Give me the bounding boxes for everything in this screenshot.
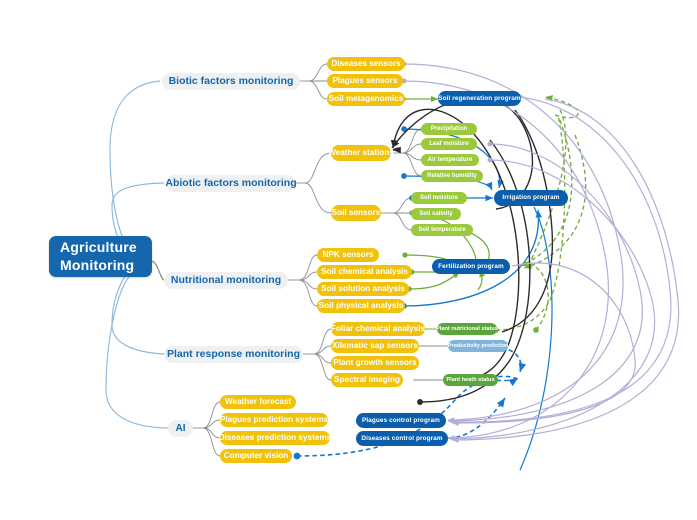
node-plant-nutricional-status[interactable]: Plant nutricional status bbox=[437, 323, 497, 335]
node-label: Soil chemical analysis bbox=[321, 267, 408, 276]
root-node[interactable]: Agriculture Monitoring bbox=[49, 236, 152, 277]
branch-biotic-factors-monitoring[interactable]: Biotic factors monitoring bbox=[162, 73, 300, 90]
node-soil-temperature[interactable]: Soil temperature bbox=[411, 224, 473, 236]
node-air-temperature[interactable]: Air temperature bbox=[421, 154, 479, 166]
node-label: Relative humidity bbox=[427, 173, 477, 180]
node-xilematic-sap-sensors[interactable]: Xilematic sap sensors bbox=[331, 339, 419, 353]
node-label: Spectral imaging bbox=[334, 375, 400, 384]
node-plagues-sensors[interactable]: Plagues sensors bbox=[327, 74, 403, 88]
node-spectral-imaging[interactable]: Spectral imaging bbox=[331, 373, 403, 387]
node-precipitation[interactable]: Precipitation bbox=[421, 123, 477, 135]
node-label: Soil temperature bbox=[418, 227, 465, 234]
node-soil-regeneration-program[interactable]: Soil regeneration program bbox=[438, 91, 521, 106]
node-soil-solution-analysis[interactable]: Soil solution analysis bbox=[317, 282, 409, 296]
node-label: Plagues control program bbox=[362, 417, 440, 424]
node-label: Soil moisture bbox=[420, 195, 458, 202]
node-label: Soil regeneration program bbox=[438, 95, 520, 102]
branch-label: Plant response monitoring bbox=[167, 349, 300, 361]
node-npk-sensors[interactable]: NPK sensors bbox=[317, 248, 379, 262]
node-weather-stations[interactable]: Weather stations bbox=[331, 145, 391, 161]
node-diseases-prediction-systems[interactable]: Diseases prediction systems bbox=[220, 431, 330, 445]
node-label: Diseases control program bbox=[361, 435, 442, 442]
node-label: Productivity prediction bbox=[448, 343, 509, 349]
branch-label: Biotic factors monitoring bbox=[169, 76, 294, 88]
node-computer-vision[interactable]: Computer vision bbox=[220, 449, 292, 463]
node-label: Plagues prediction systems bbox=[220, 415, 328, 424]
branch-abiotic-factors-monitoring[interactable]: Abiotic factors monitoring bbox=[166, 175, 296, 192]
node-label: Plant growth sensors bbox=[333, 358, 416, 367]
node-diseases-control-program[interactable]: Diseases control program bbox=[356, 431, 448, 446]
node-soil-metagenomics[interactable]: Soil metagenomics bbox=[327, 92, 405, 106]
node-productivity-prediction[interactable]: Productivity prediction bbox=[448, 340, 508, 352]
node-soil-chemical-analysis[interactable]: Soil chemical analysis bbox=[317, 265, 412, 279]
node-label: Soil physical analysis bbox=[319, 301, 404, 310]
branch-nutritional-monitoring[interactable]: Nutritional monitoring bbox=[164, 272, 288, 289]
root-label-line2: Monitoring bbox=[60, 257, 134, 273]
node-label: Weather forecast bbox=[225, 397, 291, 406]
node-label: NPK sensors bbox=[323, 250, 374, 259]
node-label: Soil solution analysis bbox=[321, 284, 405, 293]
node-soil-physical-analysis[interactable]: Soil physical analysis bbox=[317, 299, 405, 313]
node-plant-heath-status[interactable]: Plant heath status bbox=[443, 374, 498, 386]
root-node-label: Agriculture Monitoring bbox=[60, 239, 137, 274]
node-label: Plant nutricional status bbox=[436, 326, 498, 332]
node-label: Diseases prediction systems bbox=[219, 433, 331, 442]
node-label: Diseases sensors bbox=[331, 59, 400, 68]
node-plant-growth-sensors[interactable]: Plant growth sensors bbox=[331, 356, 419, 370]
node-label: Air temperature bbox=[428, 157, 473, 164]
node-plagues-control-program[interactable]: Plagues control program bbox=[356, 413, 446, 428]
node-soil-salinity[interactable]: Soil salinity bbox=[411, 208, 461, 220]
node-label: Computer vision bbox=[224, 451, 289, 460]
node-soil-moisture[interactable]: Soil moisture bbox=[411, 192, 467, 204]
branch-label: Abiotic factors monitoring bbox=[165, 178, 296, 190]
node-label: Soil salinity bbox=[419, 211, 452, 218]
root-label-line1: Agriculture bbox=[60, 239, 137, 255]
node-label: Foliar chemical analysis bbox=[331, 324, 425, 333]
node-label: Precipitation bbox=[431, 126, 467, 133]
branch-label: AI bbox=[176, 423, 186, 434]
node-label: Xilematic sap sensors bbox=[332, 341, 418, 350]
node-irrigation-program[interactable]: Irrigation program bbox=[494, 190, 568, 206]
green-dashed-wires bbox=[496, 97, 586, 330]
node-label: Leaf moisture bbox=[429, 141, 468, 148]
node-label: Irrigation program bbox=[502, 194, 559, 201]
node-soil-sensors[interactable]: Soil sensors bbox=[331, 205, 381, 221]
branch-ai[interactable]: AI bbox=[168, 420, 193, 437]
branch-label: Nutritional monitoring bbox=[171, 275, 281, 287]
node-label: Fertilization program bbox=[438, 263, 504, 270]
node-diseases-sensors[interactable]: Diseases sensors bbox=[327, 57, 405, 71]
node-fertilization-program[interactable]: Fertilization program bbox=[432, 259, 510, 274]
node-relative-humidity[interactable]: Relative humidity bbox=[421, 170, 483, 182]
node-leaf-moisture[interactable]: Leaf moisture bbox=[421, 138, 477, 150]
node-label: Plant heath status bbox=[446, 377, 494, 383]
node-label: Soil metagenomics bbox=[329, 94, 404, 103]
node-weather-forecast[interactable]: Weather forecast bbox=[220, 395, 296, 409]
node-plagues-prediction-systems[interactable]: Plagues prediction systems bbox=[220, 413, 328, 427]
mindmap-canvas: Agriculture Monitoring Biotic factors mo… bbox=[0, 0, 697, 520]
node-foliar-chemical-analysis[interactable]: Foliar chemical analysis bbox=[331, 322, 425, 336]
node-label: Soil sensors bbox=[332, 208, 381, 217]
branch-plant-response-monitoring[interactable]: Plant response monitoring bbox=[164, 346, 303, 363]
node-label: Weather stations bbox=[328, 148, 394, 157]
node-label: Plagues sensors bbox=[332, 76, 397, 85]
